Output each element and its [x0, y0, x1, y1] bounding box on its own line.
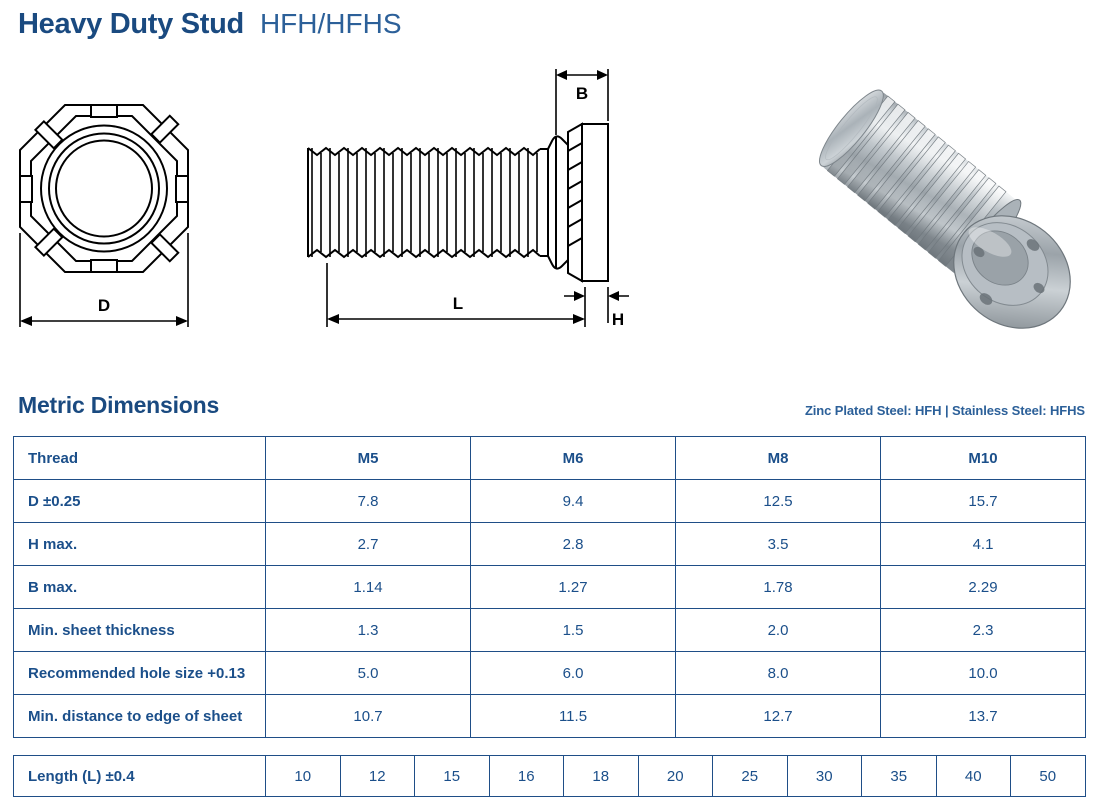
cell-value: 15.7 — [881, 480, 1086, 523]
cell-value: 1.5 — [471, 609, 676, 652]
table-row: Min. distance to edge of sheet 10.7 11.5… — [14, 695, 1086, 738]
row-label: Min. sheet thickness — [14, 609, 266, 652]
cell-value: 12.7 — [676, 695, 881, 738]
table-row: B max. 1.14 1.27 1.78 2.29 — [14, 566, 1086, 609]
cell-value: 1.14 — [266, 566, 471, 609]
length-value: 18 — [564, 756, 639, 797]
cell-value: 13.7 — [881, 695, 1086, 738]
cell-value: 4.1 — [881, 523, 1086, 566]
dimension-label-b: B — [576, 84, 588, 103]
stud-product-photo — [790, 80, 1090, 350]
cell-value: 1.78 — [676, 566, 881, 609]
cell-value: 2.3 — [881, 609, 1086, 652]
table-header-row: Thread M5 M6 M8 M10 — [14, 437, 1086, 480]
drawings-area: D — [0, 55, 1096, 385]
page-header: Heavy Duty Stud HFH/HFHS — [18, 8, 402, 41]
row-label: B max. — [14, 566, 266, 609]
metric-dimensions-table: Thread M5 M6 M8 M10 D ±0.25 7.8 9.4 12.5… — [13, 436, 1086, 738]
cell-value: 3.5 — [676, 523, 881, 566]
table-row: Recommended hole size +0.13 5.0 6.0 8.0 … — [14, 652, 1086, 695]
cell-value: 1.27 — [471, 566, 676, 609]
length-value: 40 — [936, 756, 1011, 797]
length-value: 35 — [862, 756, 937, 797]
length-value: 25 — [713, 756, 788, 797]
cell-value: 2.7 — [266, 523, 471, 566]
dimension-label-l: L — [453, 294, 463, 313]
stud-side-view: B L H — [290, 55, 670, 355]
dimension-label-d: D — [98, 296, 110, 315]
length-value: 16 — [489, 756, 564, 797]
length-value: 12 — [340, 756, 415, 797]
cell-value: 10.7 — [266, 695, 471, 738]
section-heading: Metric Dimensions — [18, 392, 219, 419]
flange-top-view: D — [0, 55, 230, 355]
row-label: Recommended hole size +0.13 — [14, 652, 266, 695]
length-value: 30 — [787, 756, 862, 797]
cell-value: 6.0 — [471, 652, 676, 695]
cell-value: 7.8 — [266, 480, 471, 523]
row-label: Min. distance to edge of sheet — [14, 695, 266, 738]
datasheet-page: Heavy Duty Stud HFH/HFHS — [0, 0, 1096, 802]
cell-value: 1.3 — [266, 609, 471, 652]
length-row: Length (L) ±0.4 10 12 15 16 18 20 25 30 … — [14, 756, 1086, 797]
cell-value: 8.0 — [676, 652, 881, 695]
row-label-length: Length (L) ±0.4 — [14, 756, 266, 797]
length-options-table: Length (L) ±0.4 10 12 15 16 18 20 25 30 … — [13, 755, 1086, 797]
dimension-label-h: H — [612, 310, 624, 329]
page-title: Heavy Duty Stud — [18, 8, 244, 41]
cell-value: 11.5 — [471, 695, 676, 738]
material-note: Zinc Plated Steel: HFH | Stainless Steel… — [805, 403, 1085, 418]
column-header-m10: M10 — [881, 437, 1086, 480]
cell-value: 9.4 — [471, 480, 676, 523]
row-label: H max. — [14, 523, 266, 566]
column-header-m6: M6 — [471, 437, 676, 480]
column-header-m5: M5 — [266, 437, 471, 480]
length-value: 20 — [638, 756, 713, 797]
length-value: 50 — [1011, 756, 1086, 797]
length-value: 10 — [266, 756, 341, 797]
table-row: Min. sheet thickness 1.3 1.5 2.0 2.3 — [14, 609, 1086, 652]
cell-value: 12.5 — [676, 480, 881, 523]
cell-value: 5.0 — [266, 652, 471, 695]
cell-value: 10.0 — [881, 652, 1086, 695]
table-row: H max. 2.7 2.8 3.5 4.1 — [14, 523, 1086, 566]
cell-value: 2.8 — [471, 523, 676, 566]
cell-value: 2.0 — [676, 609, 881, 652]
row-label: D ±0.25 — [14, 480, 266, 523]
column-header-thread: Thread — [14, 437, 266, 480]
length-value: 15 — [415, 756, 490, 797]
table-row: D ±0.25 7.8 9.4 12.5 15.7 — [14, 480, 1086, 523]
product-code: HFH/HFHS — [260, 8, 402, 40]
cell-value: 2.29 — [881, 566, 1086, 609]
column-header-m8: M8 — [676, 437, 881, 480]
